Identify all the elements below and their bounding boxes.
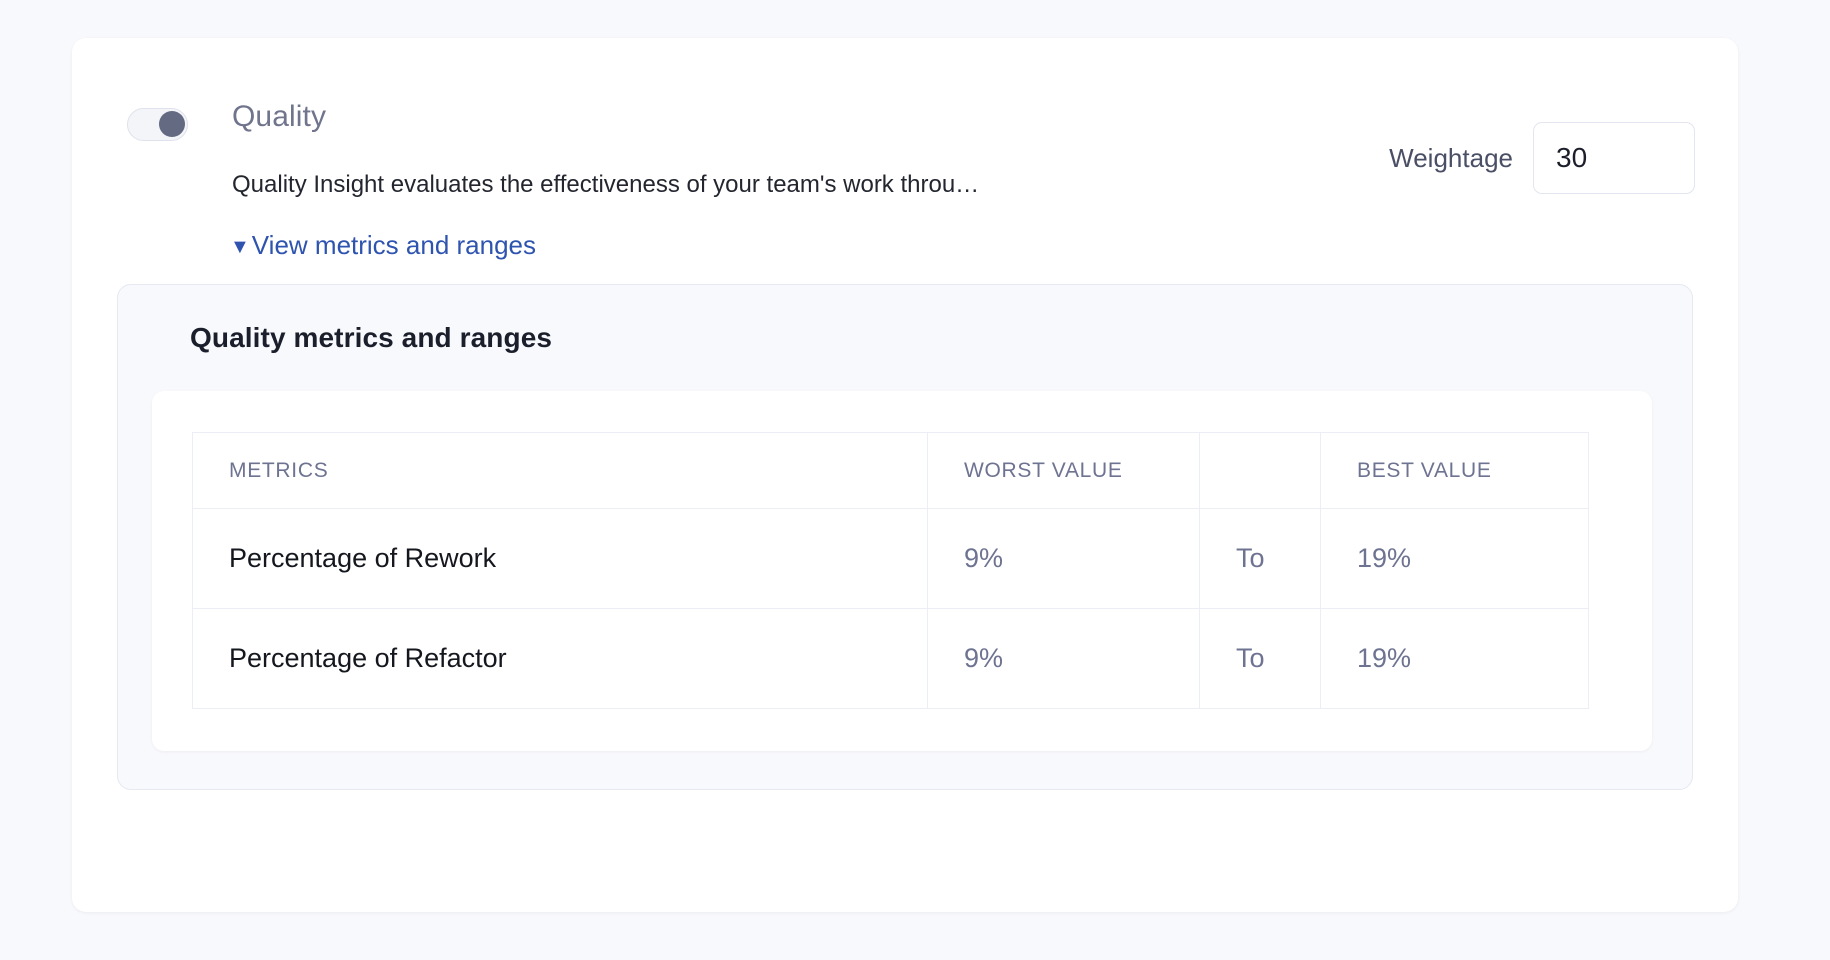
chevron-down-icon: ▼: [230, 237, 250, 257]
cell-to-label: To: [1200, 509, 1321, 609]
cell-worst-value: 9%: [928, 509, 1200, 609]
table-row: Percentage of Refactor 9% To 19%: [193, 609, 1589, 709]
column-header-metrics: METRICS: [193, 433, 928, 509]
cell-best-value: 19%: [1321, 609, 1589, 709]
insight-title: Quality: [232, 100, 326, 134]
view-metrics-and-ranges-link[interactable]: ▼ View metrics and ranges: [230, 230, 536, 261]
table-row: Percentage of Rework 9% To 19%: [193, 509, 1589, 609]
cell-metric-name: Percentage of Refactor: [193, 609, 928, 709]
quality-insight-toggle[interactable]: [127, 108, 188, 141]
weightage-group: Weightage: [1389, 122, 1695, 194]
view-metrics-and-ranges-label: View metrics and ranges: [252, 230, 536, 261]
cell-to-label: To: [1200, 609, 1321, 709]
table-header-row: METRICS WORST VALUE BEST VALUE: [193, 433, 1589, 509]
toggle-knob: [159, 111, 185, 137]
weightage-input[interactable]: [1533, 122, 1695, 194]
column-header-worst-value: WORST VALUE: [928, 433, 1200, 509]
weightage-label: Weightage: [1389, 143, 1513, 174]
cell-best-value: 19%: [1321, 509, 1589, 609]
quality-metrics-panel: Quality metrics and ranges METRICS WORST…: [117, 284, 1693, 790]
metrics-table-card: METRICS WORST VALUE BEST VALUE Percentag…: [152, 391, 1652, 751]
quality-insight-card: Quality Quality Insight evaluates the ef…: [72, 38, 1738, 912]
column-header-spacer: [1200, 433, 1321, 509]
insight-description: Quality Insight evaluates the effectiven…: [232, 168, 1122, 202]
cell-metric-name: Percentage of Rework: [193, 509, 928, 609]
metrics-panel-heading: Quality metrics and ranges: [190, 322, 552, 354]
cell-worst-value: 9%: [928, 609, 1200, 709]
column-header-best-value: BEST VALUE: [1321, 433, 1589, 509]
insight-header: Quality Quality Insight evaluates the ef…: [72, 38, 1738, 288]
metrics-ranges-table: METRICS WORST VALUE BEST VALUE Percentag…: [192, 432, 1589, 709]
